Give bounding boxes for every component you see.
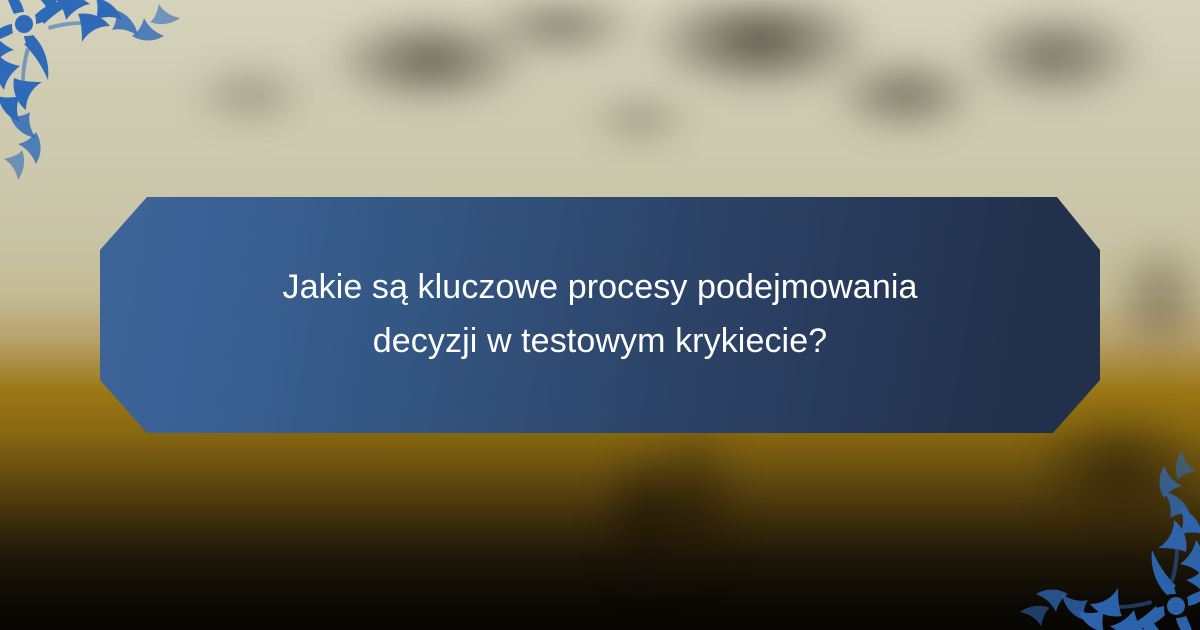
quote-card: Jakie są kluczowe procesy podejmowania d… [0,0,1200,630]
headline-banner: Jakie są kluczowe procesy podejmowania d… [100,197,1100,433]
page-title: Jakie są kluczowe procesy podejmowania d… [150,261,1050,368]
